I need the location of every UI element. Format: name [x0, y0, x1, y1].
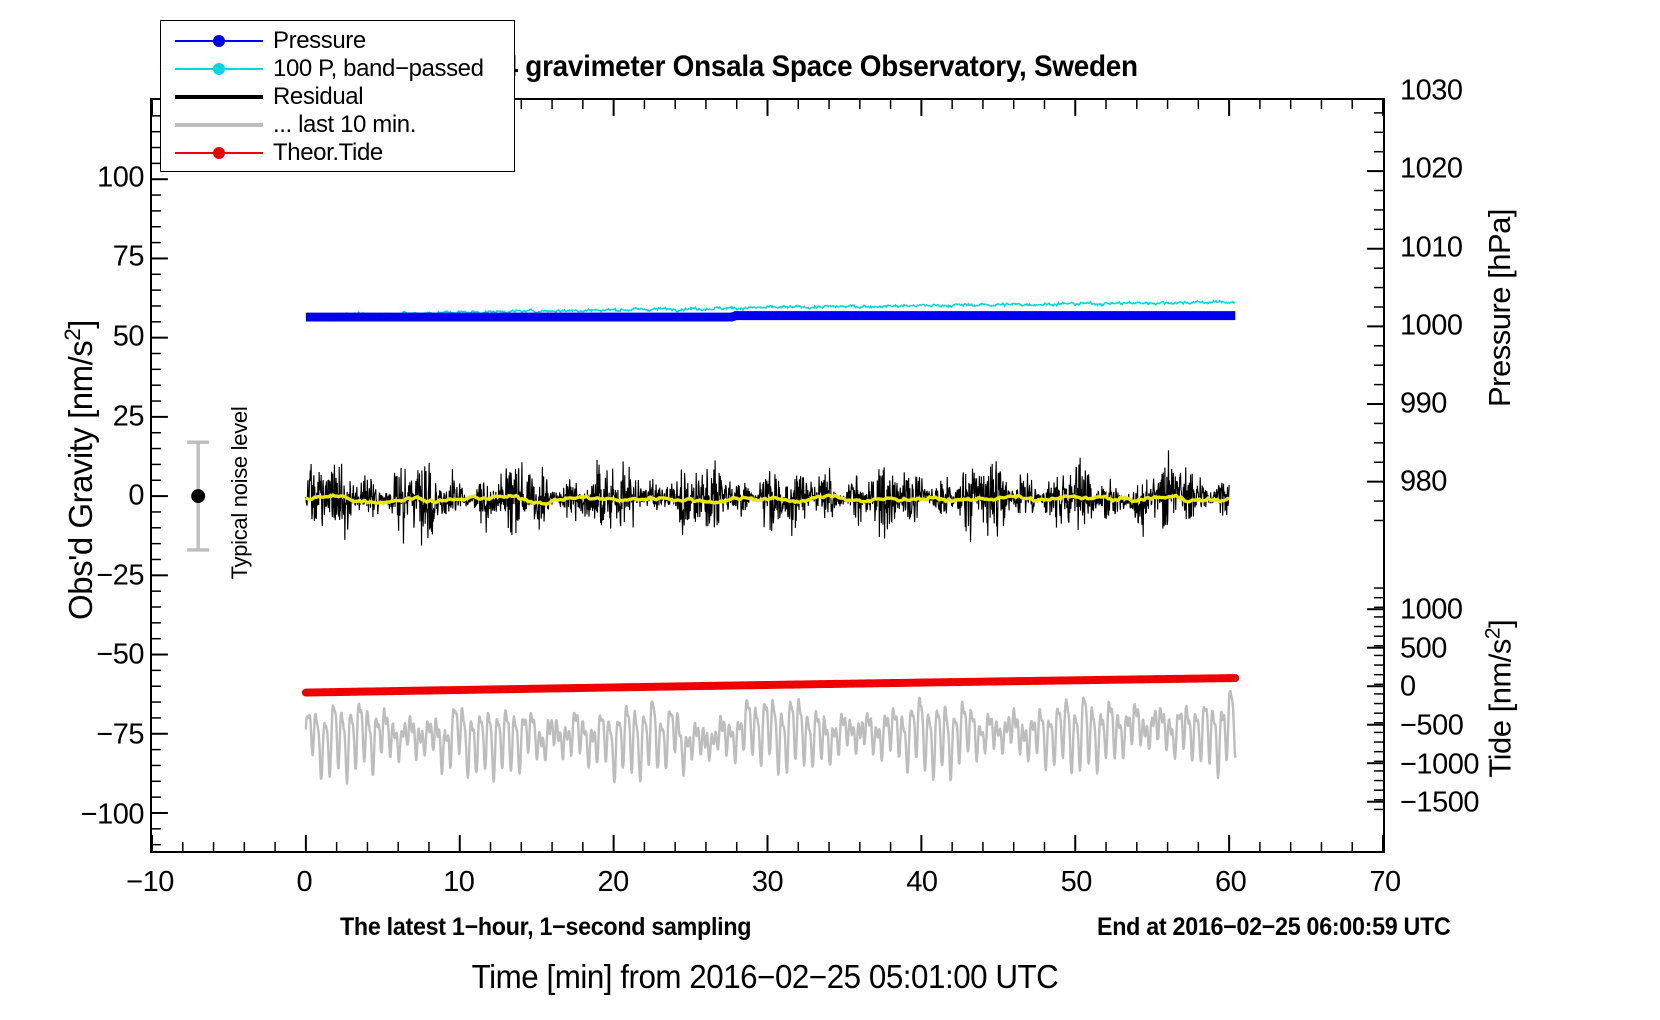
- legend-item-label: Pressure: [263, 27, 366, 55]
- legend-swatch-2: [175, 55, 263, 83]
- y-axis-pressure-tick-label: 1030: [1400, 75, 1540, 108]
- y-axis-left-tick-label: −25: [4, 559, 144, 592]
- legend: Pressure100 P, band−passedResidual... la…: [160, 20, 515, 172]
- x-axis-tick-label: −10: [90, 866, 210, 899]
- y-axis-pressure-tick-label: 990: [1400, 387, 1540, 420]
- legend-item[interactable]: Theor.Tide: [175, 139, 514, 167]
- y-axis-left-tick-label: −75: [4, 719, 144, 752]
- y-axis-tide-tick-label: −1000: [1400, 748, 1540, 781]
- legend-item-label: Theor.Tide: [263, 139, 383, 167]
- chart-canvas: SCG_054 gravimeter Onsala Space Observat…: [0, 0, 1660, 1020]
- legend-item[interactable]: 100 P, band−passed: [175, 55, 514, 83]
- legend-line-icon: [175, 95, 263, 99]
- legend-item[interactable]: Pressure: [175, 27, 514, 55]
- legend-dot-icon: [213, 147, 225, 159]
- y-axis-pressure-tick-label: 1000: [1400, 309, 1540, 342]
- x-axis-title: Time [min] from 2016−02−25 05:01:00 UTC: [38, 958, 1492, 996]
- x-axis-tick-label: 60: [1171, 866, 1291, 899]
- legend-item[interactable]: ... last 10 min.: [175, 111, 514, 139]
- y-axis-tide-tick-label: −500: [1400, 710, 1540, 743]
- legend-swatch-3: [175, 83, 263, 111]
- y-axis-tide-tick-label: 1000: [1400, 593, 1540, 626]
- y-axis-pressure-tick-label: 980: [1400, 465, 1540, 498]
- y-axis-tide-tick-label: 500: [1400, 632, 1540, 665]
- x-axis-tick-label: 0: [244, 866, 364, 899]
- x-axis-tick-label: 20: [553, 866, 673, 899]
- y-axis-pressure-tick-label: 1020: [1400, 153, 1540, 186]
- series-theor-tide: [306, 678, 1235, 693]
- typical-noise-errorbar: [187, 442, 209, 550]
- y-axis-left-tick-label: −50: [4, 639, 144, 672]
- series-pressure: [306, 316, 1235, 317]
- legend-dot-icon: [213, 35, 225, 47]
- plot-svg: [152, 100, 1383, 851]
- y-axis-left-tick-label: 0: [4, 480, 144, 513]
- legend-swatch-1: [175, 27, 263, 55]
- annotation-end-time: End at 2016−02−25 06:00:59 UTC: [1097, 913, 1451, 942]
- y-axis-left-tick-label: 50: [4, 320, 144, 353]
- x-axis-tick-label: 30: [708, 866, 828, 899]
- legend-item-label: Residual: [263, 83, 363, 111]
- series-last-10-min: [306, 691, 1235, 783]
- x-axis-tick-label: 70: [1325, 866, 1445, 899]
- legend-rows: Pressure100 P, band−passedResidual... la…: [161, 27, 514, 167]
- y-axis-pressure-tick-label: 1010: [1400, 231, 1540, 264]
- noise-level-label: Typical noise level: [227, 363, 253, 623]
- legend-line-icon: [175, 123, 263, 127]
- y-axis-left-tick-label: 75: [4, 241, 144, 274]
- y-axis-tide-tick-label: −1500: [1400, 787, 1540, 820]
- legend-swatch-4: [175, 111, 263, 139]
- x-axis-tick-label: 10: [399, 866, 519, 899]
- annotation-sampling: The latest 1−hour, 1−second sampling: [340, 913, 751, 942]
- x-axis-tick-label: 50: [1016, 866, 1136, 899]
- legend-item-label: 100 P, band−passed: [263, 55, 484, 83]
- legend-item[interactable]: Residual: [175, 83, 514, 111]
- x-axis-tick-label: 40: [862, 866, 982, 899]
- y-axis-left-tick-label: 25: [4, 400, 144, 433]
- legend-dot-icon: [213, 63, 225, 75]
- y-axis-left-tick-label: 100: [4, 161, 144, 194]
- plot-area: The latest 1−hour, 1−second sampling End…: [150, 98, 1385, 853]
- y-axis-tide-tick-label: 0: [1400, 671, 1540, 704]
- legend-swatch-5: [175, 139, 263, 167]
- legend-item-label: ... last 10 min.: [263, 111, 416, 139]
- y-axis-left-tick-label: −100: [4, 798, 144, 831]
